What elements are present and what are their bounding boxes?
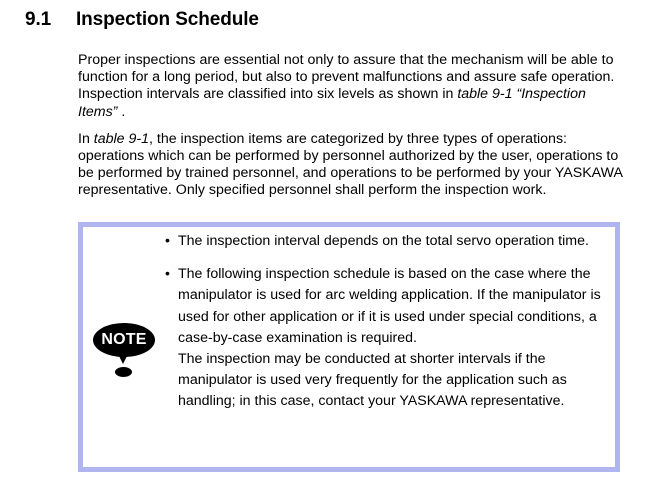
paragraph-2-run-3: , the inspection items are categorized b…: [78, 131, 622, 199]
note-bullet-2: • The following inspection schedule is b…: [165, 264, 605, 412]
section-title: Inspection Schedule: [76, 9, 259, 31]
note-bubble-dot: [115, 367, 132, 377]
page-title: 9.1Inspection Schedule: [25, 9, 625, 35]
note-speech-bubble-icon: NOTE: [93, 323, 159, 379]
paragraph-2-table-reference: table 9-1: [94, 131, 149, 147]
bullet-marker-icon: •: [165, 231, 170, 252]
note-bubble-tail: [118, 354, 128, 364]
section-number: 9.1: [25, 9, 76, 31]
note-bullet-1: • The inspection interval depends on the…: [165, 231, 605, 252]
note-icon-label: NOTE: [93, 323, 155, 357]
paragraph-1-run-3: .: [117, 104, 125, 120]
note-callout-box: NOTE • The inspection interval depends o…: [78, 222, 620, 472]
note-content: • The inspection interval depends on the…: [165, 231, 605, 413]
note-bullet-2-text: The following inspection schedule is bas…: [178, 266, 601, 346]
bullet-marker-icon: •: [165, 264, 170, 285]
paragraph-2: In table 9-1, the inspection items are c…: [78, 131, 626, 200]
paragraph-2-run-1: In: [78, 131, 94, 147]
note-bullet-2-continuation: The inspection may be conducted at short…: [178, 349, 605, 413]
paragraph-1: Proper inspections are essential not onl…: [78, 52, 626, 121]
body-text-column: Proper inspections are essential not onl…: [78, 52, 626, 205]
note-bullet-1-text: The inspection interval depends on the t…: [178, 233, 589, 249]
document-page: 9.1Inspection Schedule Proper inspection…: [0, 0, 647, 500]
